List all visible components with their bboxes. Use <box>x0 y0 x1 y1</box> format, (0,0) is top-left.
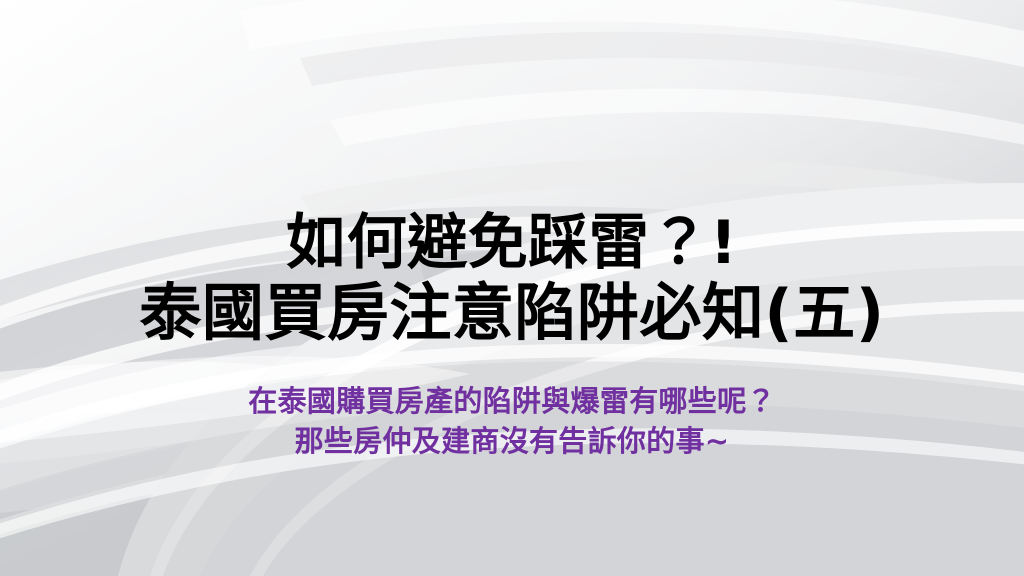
subtitle-line-2: 那些房仲及建商沒有告訴你的事~ <box>0 421 1024 461</box>
title-line-2: 泰國買房注意陷阱必知(五) <box>0 280 1024 346</box>
slide-title: 如何避免踩雷？! 泰國買房注意陷阱必知(五) <box>0 212 1024 345</box>
subtitle-line-1: 在泰國購買房產的陷阱與爆雷有哪些呢？ <box>0 381 1024 421</box>
slide-subtitle: 在泰國購買房產的陷阱與爆雷有哪些呢？ 那些房仲及建商沒有告訴你的事~ <box>0 381 1024 461</box>
title-line-1: 如何避免踩雷？! <box>0 212 1024 276</box>
slide-canvas: 如何避免踩雷？! 泰國買房注意陷阱必知(五) 在泰國購買房產的陷阱與爆雷有哪些呢… <box>0 0 1024 576</box>
slide-content: 如何避免踩雷？! 泰國買房注意陷阱必知(五) 在泰國購買房產的陷阱與爆雷有哪些呢… <box>0 0 1024 576</box>
